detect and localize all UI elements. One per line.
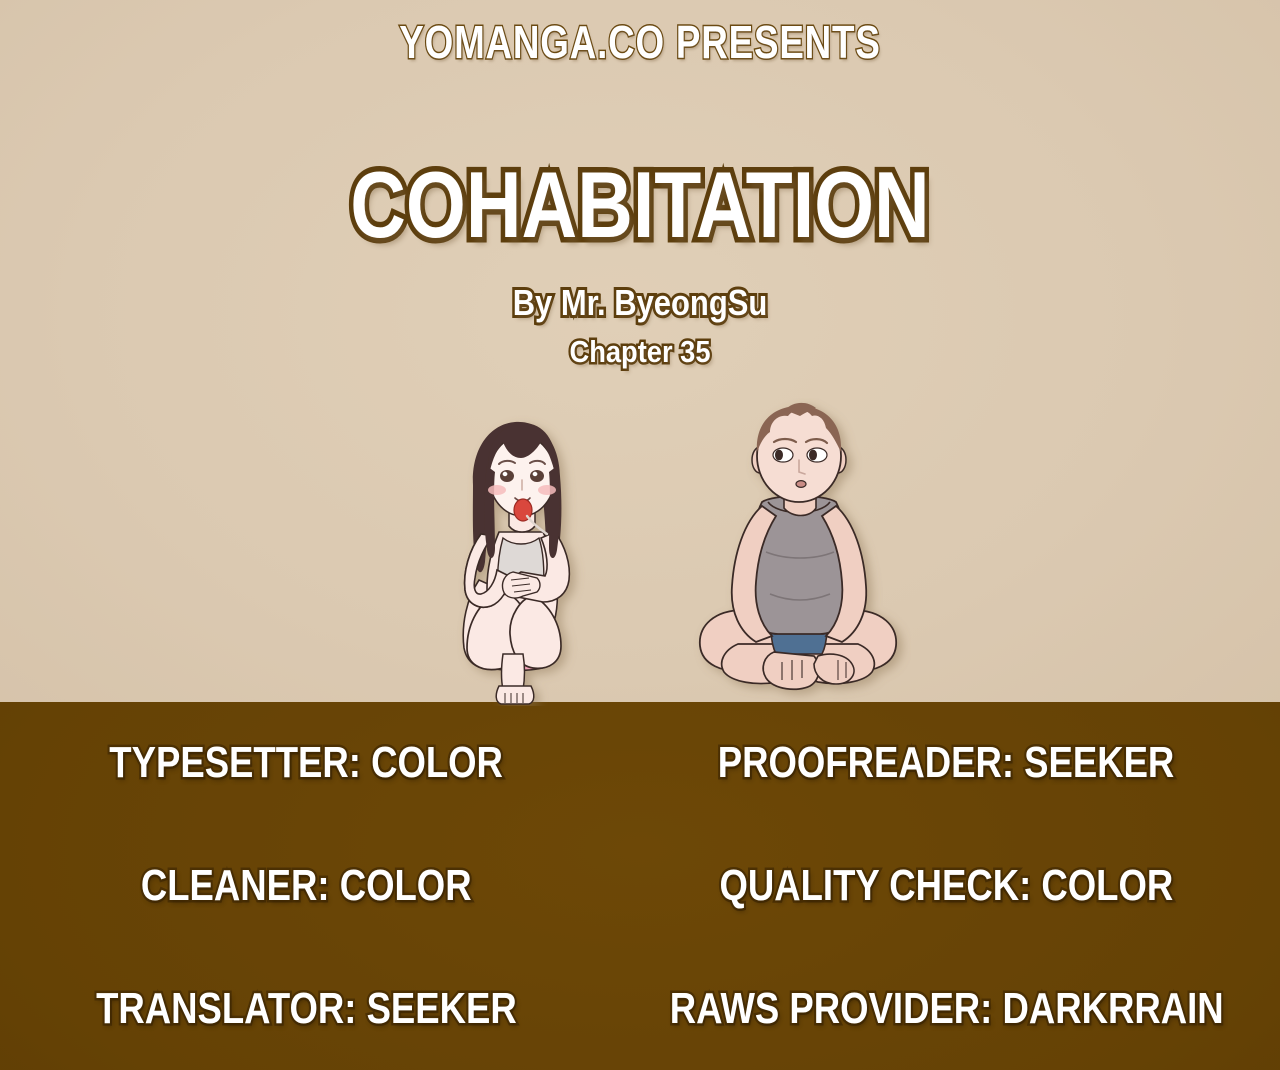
credit-quality-check: QUALITY CHECK: COLOR xyxy=(719,861,1173,911)
author-credit: By Mr. ByeongSu xyxy=(90,283,1191,323)
scanlation-group-presents: YOMANGA.CO PRESENTS xyxy=(128,16,1152,68)
credit-cleaner: CLEANER: COLOR xyxy=(141,861,472,911)
chapter-label: Chapter 35 xyxy=(77,334,1203,370)
seated-girl-character xyxy=(437,410,622,706)
seated-boy-character xyxy=(686,398,911,706)
credit-raws-provider: RAWS PROVIDER: DARKRRAIN xyxy=(669,984,1223,1034)
title-page: YOMANGA.CO PRESENTS COHABITATION By Mr. … xyxy=(0,0,1280,1070)
credit-proofreader: PROOFREADER: SEEKER xyxy=(718,738,1175,788)
credit-translator: TRANSLATOR: SEEKER xyxy=(96,984,517,1034)
credits-grid: TYPESETTER: COLOR PROOFREADER: SEEKER CL… xyxy=(0,702,1280,1070)
credit-typesetter: TYPESETTER: COLOR xyxy=(109,738,503,788)
page-title: COHABITATION xyxy=(115,155,1165,255)
